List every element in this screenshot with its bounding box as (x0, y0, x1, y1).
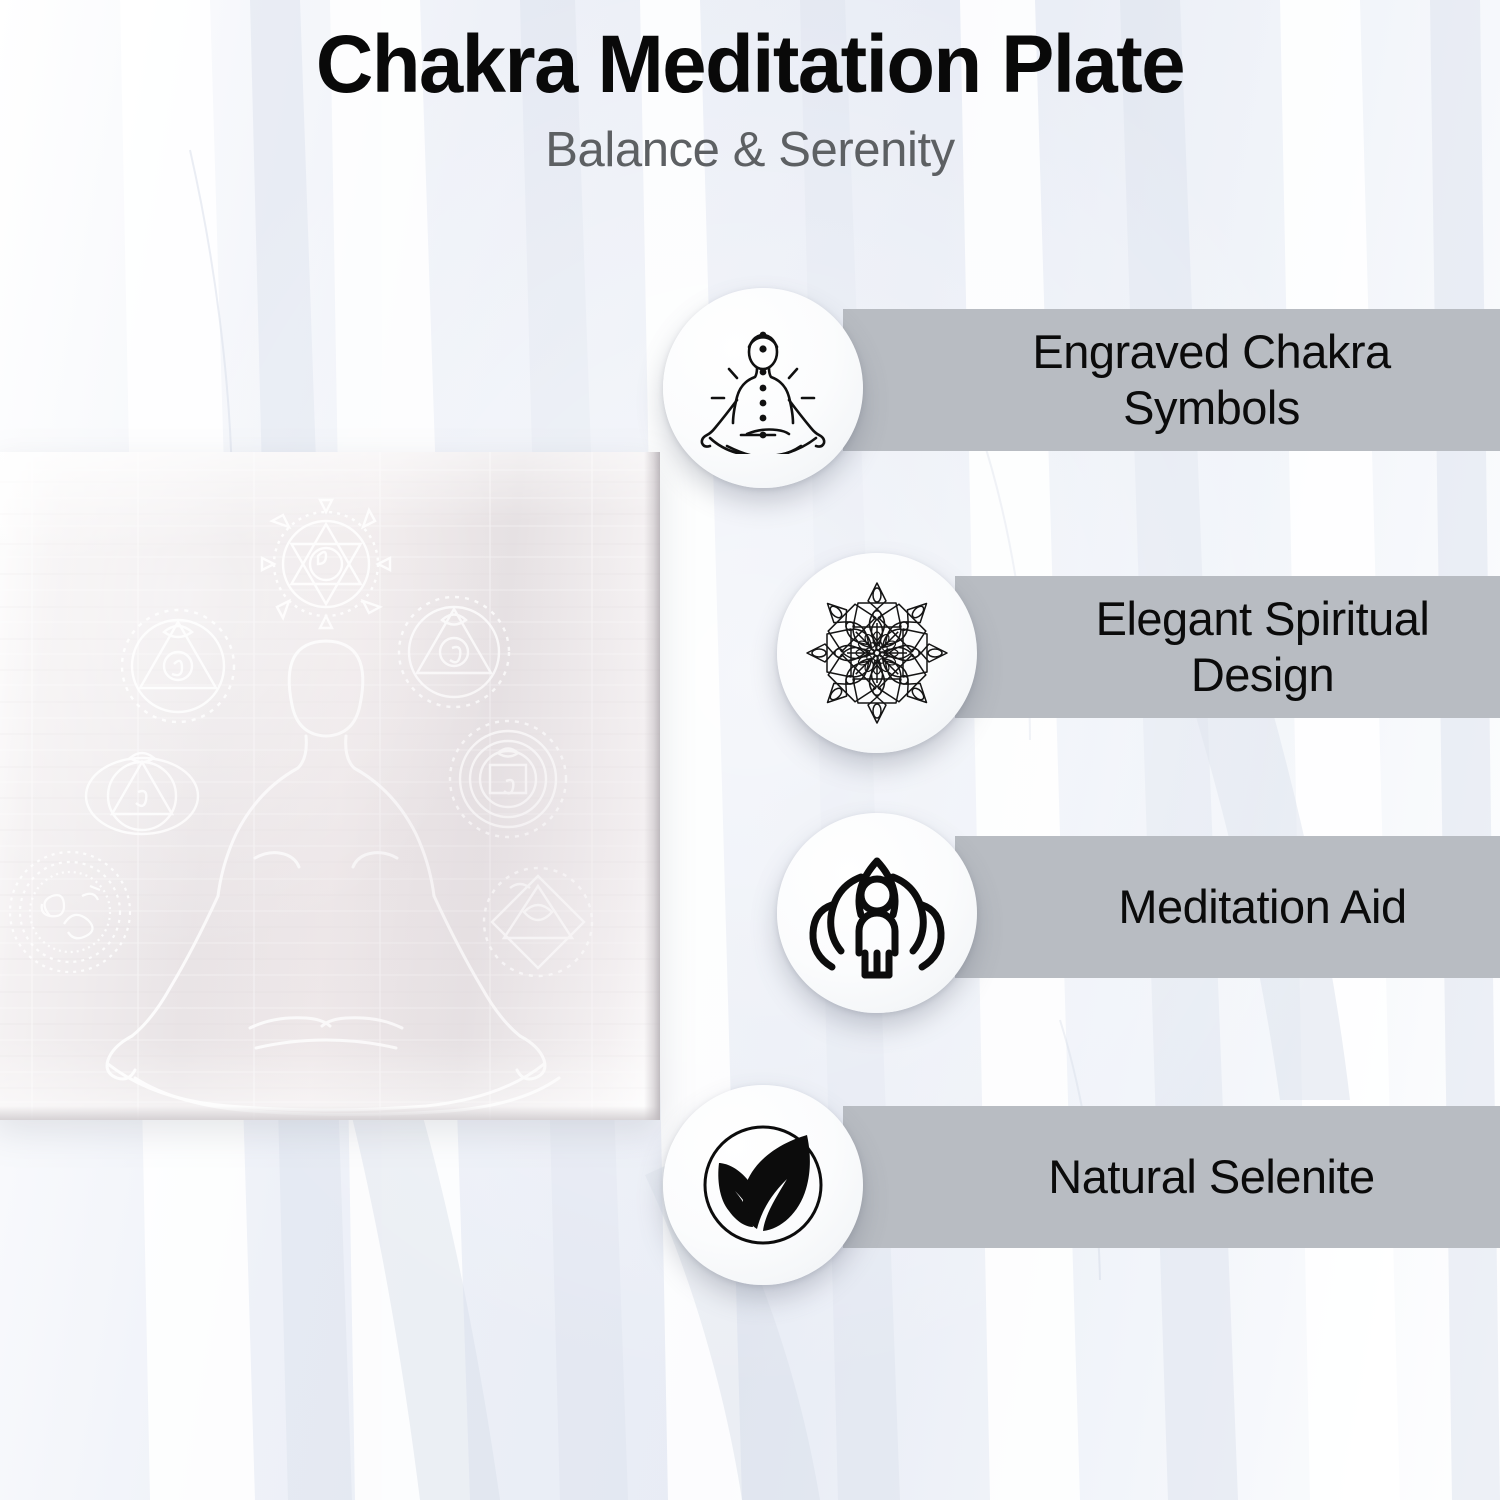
feature-bar: Natural Selenite (843, 1106, 1500, 1248)
lotus-person-icon (807, 843, 947, 983)
feature-badge[interactable] (663, 1085, 863, 1285)
product-image (0, 452, 660, 1120)
plate-sheen (0, 452, 660, 1120)
feature-badge[interactable] (777, 813, 977, 1013)
plate-bottom-edge (0, 1106, 660, 1120)
feature-badge[interactable] (663, 288, 863, 488)
meditating-figure-chakras-icon (697, 322, 829, 454)
feature-label: Meditation Aid (955, 879, 1500, 935)
feature-label: Natural Selenite (843, 1149, 1500, 1205)
feature-badge[interactable] (777, 553, 977, 753)
mandala-icon (804, 580, 950, 726)
feature-bar: Elegant Spiritual Design (955, 576, 1500, 718)
page-title: Chakra Meditation Plate (23, 22, 1478, 108)
feature-bar: Meditation Aid (955, 836, 1500, 978)
header: Chakra Meditation Plate Balance & Sereni… (0, 22, 1500, 178)
feature-label: Elegant Spiritual Design (955, 591, 1500, 704)
eco-leaves-icon (695, 1117, 831, 1253)
plate-right-edge (644, 452, 660, 1120)
feature-label: Engraved Chakra Symbols (843, 324, 1500, 437)
feature-bar: Engraved Chakra Symbols (843, 309, 1500, 451)
page-subtitle: Balance & Serenity (0, 122, 1500, 178)
